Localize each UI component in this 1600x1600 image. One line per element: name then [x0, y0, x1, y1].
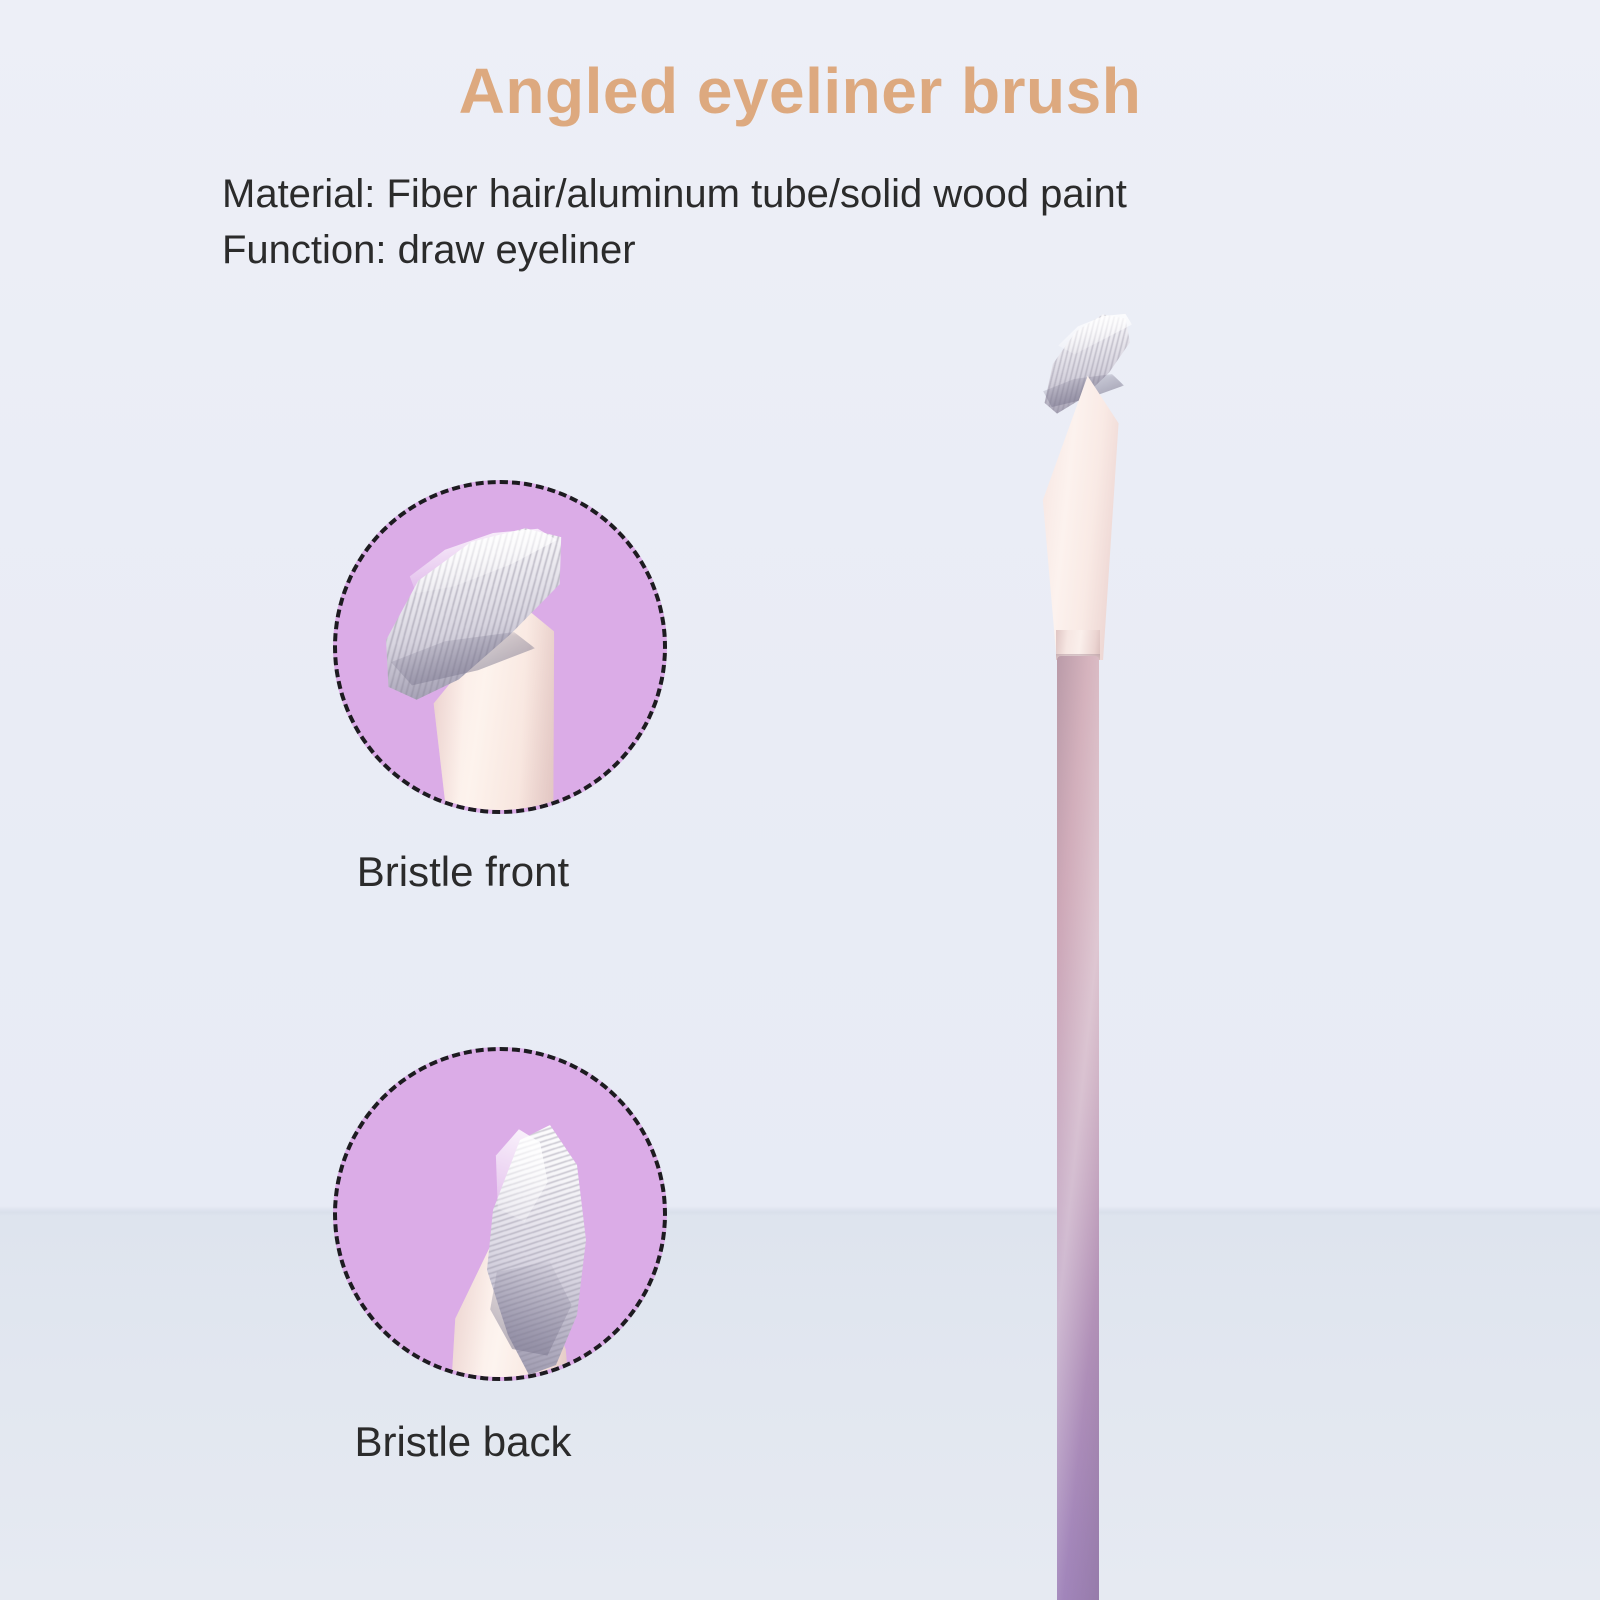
spec-line-function: Function: draw eyeliner: [222, 228, 636, 273]
detail-callout-back-clip: [337, 1051, 663, 1377]
caption-bristle-back: Bristle back: [263, 1418, 663, 1466]
spec-line-material: Material: Fiber hair/aluminum tube/solid…: [222, 172, 1127, 217]
detail-callout-bristle-back: [333, 1047, 667, 1381]
caption-bristle-front: Bristle front: [263, 848, 663, 896]
background-lower-band: [0, 1212, 1600, 1600]
brush-ferrule: [1036, 364, 1122, 660]
detail-callout-front-clip: [337, 484, 663, 810]
background-horizon-seam: [0, 1206, 1600, 1216]
product-brush-full-view: [1010, 300, 1150, 1520]
page-title: Angled eyeliner brush: [0, 54, 1600, 128]
brush-handle: [1057, 656, 1099, 1600]
product-infographic: Angled eyeliner brush Material: Fiber ha…: [0, 0, 1600, 1600]
detail-callout-bristle-front: [333, 480, 667, 814]
